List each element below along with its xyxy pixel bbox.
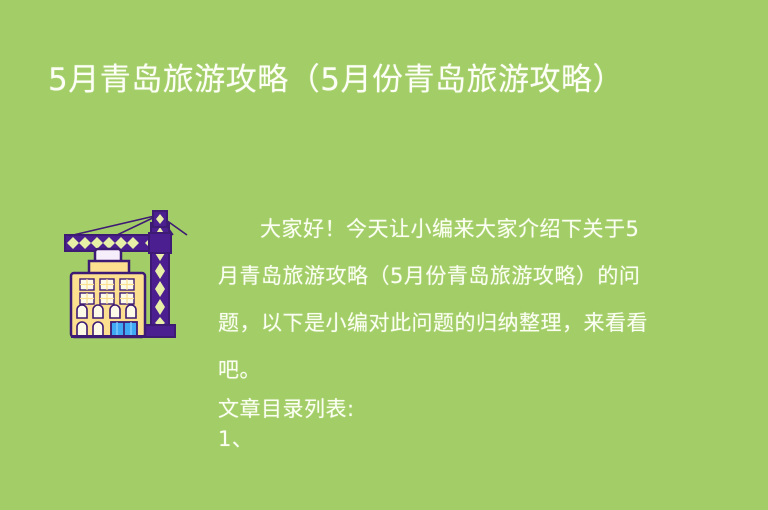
construction-crane-illustration (55, 205, 205, 345)
article-body: 大家好！今天让小编来大家介绍下关于5月青岛旅游攻略（5月份青岛旅游攻略）的问题，… (218, 206, 654, 454)
toc-item-1: 1、 (218, 424, 654, 454)
crane-building-icon (55, 205, 205, 345)
lead-paragraph: 大家好！今天让小编来大家介绍下关于5月青岛旅游攻略（5月份青岛旅游攻略）的问题，… (218, 206, 654, 394)
title-block: 5月青岛旅游攻略（5月份青岛旅游攻略） (48, 58, 688, 102)
toc-heading: 文章目录列表: (218, 394, 654, 424)
page-title: 5月青岛旅游攻略（5月份青岛旅游攻略） (48, 58, 688, 102)
article-page: 5月青岛旅游攻略（5月份青岛旅游攻略） (0, 0, 768, 510)
